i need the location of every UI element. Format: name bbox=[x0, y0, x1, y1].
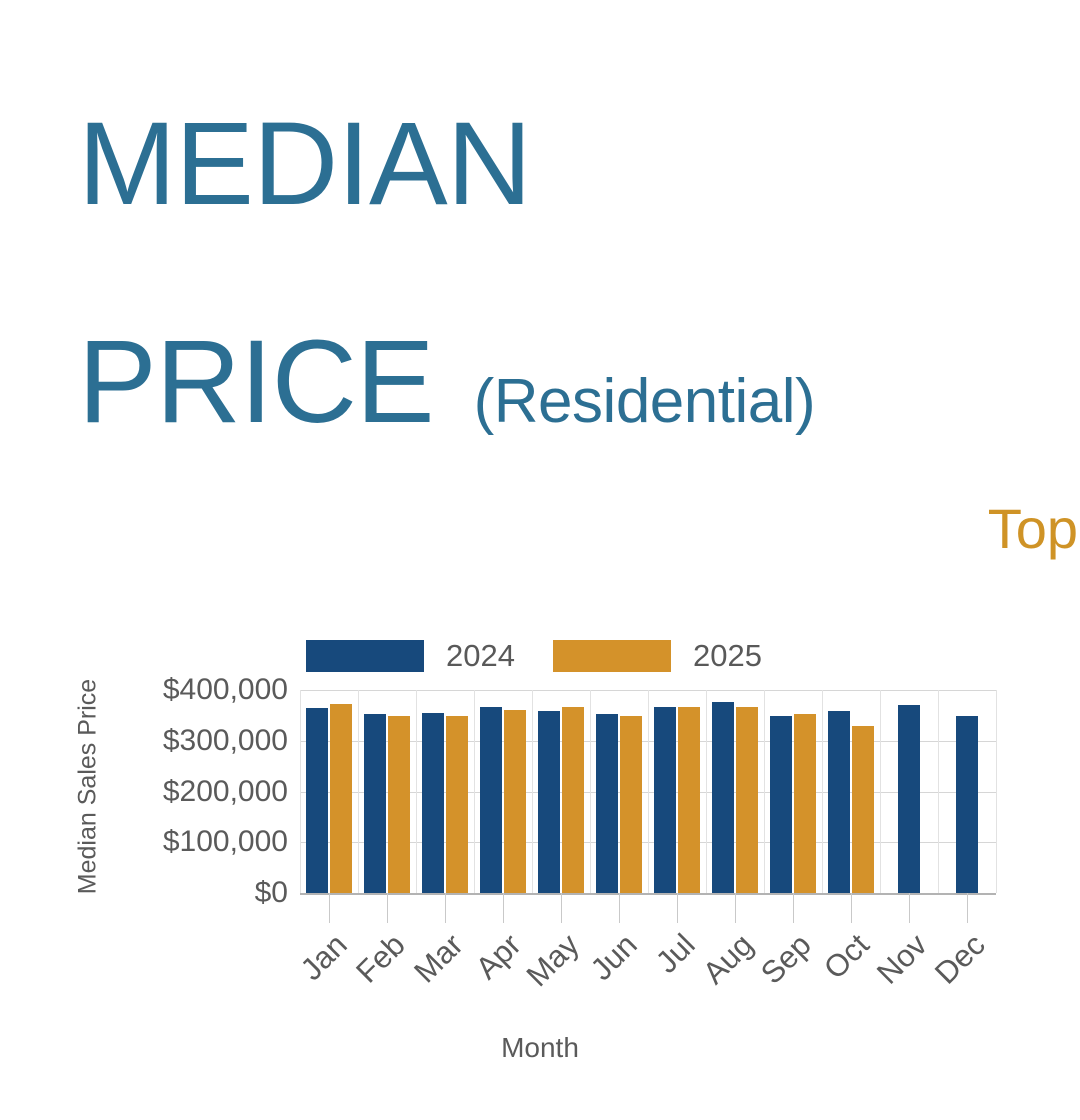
y-tick-label-100000: $100,000 bbox=[163, 825, 288, 859]
page-title-suffix: (Residential) bbox=[474, 366, 816, 437]
bar-group-aug bbox=[706, 690, 764, 893]
x-tick-jan bbox=[329, 893, 330, 923]
bar-sep-2025[interactable] bbox=[794, 714, 816, 893]
x-tick-may bbox=[561, 893, 562, 923]
legend-swatch-2024-icon bbox=[306, 640, 424, 672]
x-tick-mar bbox=[445, 893, 446, 923]
bar-group-mar bbox=[416, 690, 474, 893]
x-tick-jun bbox=[619, 893, 620, 923]
y-tick-label-300000: $300,000 bbox=[163, 724, 288, 758]
bar-feb-2024[interactable] bbox=[364, 714, 386, 893]
bar-group-may bbox=[532, 690, 590, 893]
bar-group-nov bbox=[880, 690, 938, 893]
median-price-chart-page: MEDIAN PRICE (Residential) Top 2024 2025… bbox=[0, 0, 1080, 1120]
x-tick-aug bbox=[735, 893, 736, 923]
legend-label-2025: 2025 bbox=[693, 638, 762, 674]
y-tick-label-200000: $200,000 bbox=[163, 775, 288, 809]
bar-group-sep bbox=[764, 690, 822, 893]
bar-jul-2024[interactable] bbox=[654, 707, 676, 893]
x-axis-title: Month bbox=[0, 1032, 1080, 1064]
y-tick-label-0: $0 bbox=[255, 876, 288, 910]
bar-aug-2025[interactable] bbox=[736, 707, 758, 893]
bar-jan-2024[interactable] bbox=[306, 708, 328, 893]
bar-jul-2025[interactable] bbox=[678, 707, 700, 893]
x-tick-dec bbox=[967, 893, 968, 923]
bar-group-feb bbox=[358, 690, 416, 893]
page-title-line2: PRICE bbox=[78, 322, 434, 442]
bar-may-2025[interactable] bbox=[562, 707, 584, 893]
legend-item-2025[interactable]: 2025 bbox=[553, 638, 762, 674]
bar-group-oct bbox=[822, 690, 880, 893]
bar-jan-2025[interactable] bbox=[330, 704, 352, 893]
bar-group-jan bbox=[300, 690, 358, 893]
y-axis-title: Median Sales Price bbox=[74, 647, 103, 927]
bar-mar-2025[interactable] bbox=[446, 716, 468, 893]
legend-label-2024: 2024 bbox=[446, 638, 515, 674]
bar-oct-2025[interactable] bbox=[852, 726, 874, 893]
page-title-line2-row: PRICE (Residential) bbox=[78, 322, 1038, 442]
bar-mar-2024[interactable] bbox=[422, 713, 444, 893]
x-tick-oct bbox=[851, 893, 852, 923]
gridline-0 bbox=[300, 893, 996, 895]
bar-series-group bbox=[300, 690, 996, 893]
legend-item-2024[interactable]: 2024 bbox=[306, 638, 515, 674]
bar-feb-2025[interactable] bbox=[388, 716, 410, 893]
bar-group-jul bbox=[648, 690, 706, 893]
bar-jun-2024[interactable] bbox=[596, 714, 618, 893]
x-tick-nov bbox=[909, 893, 910, 923]
page-title-line1: MEDIAN bbox=[78, 104, 1038, 224]
plot-area: $0$100,000$200,000$300,000$400,000 JanFe… bbox=[300, 690, 996, 893]
x-tick-feb bbox=[387, 893, 388, 923]
bar-aug-2024[interactable] bbox=[712, 702, 734, 893]
bar-dec-2024[interactable] bbox=[956, 716, 978, 893]
bar-nov-2024[interactable] bbox=[898, 705, 920, 893]
bar-apr-2025[interactable] bbox=[504, 710, 526, 893]
x-tick-jul bbox=[677, 893, 678, 923]
bar-group-apr bbox=[474, 690, 532, 893]
y-tick-label-400000: $400,000 bbox=[163, 673, 288, 707]
legend-swatch-2025-icon bbox=[553, 640, 671, 672]
x-tick-apr bbox=[503, 893, 504, 923]
bar-group-jun bbox=[590, 690, 648, 893]
bar-oct-2024[interactable] bbox=[828, 711, 850, 893]
x-tick-sep bbox=[793, 893, 794, 923]
top-label: Top bbox=[2, 496, 1078, 561]
bar-apr-2024[interactable] bbox=[480, 707, 502, 893]
page-header: MEDIAN PRICE (Residential) bbox=[78, 104, 1038, 443]
chart-legend: 2024 2025 bbox=[306, 638, 762, 674]
bar-group-dec bbox=[938, 690, 996, 893]
bar-jun-2025[interactable] bbox=[620, 716, 642, 893]
bar-sep-2024[interactable] bbox=[770, 716, 792, 893]
chart-container: 2024 2025 Median Sales Price $0$100,000$… bbox=[0, 620, 1080, 1120]
vertical-gridline-12 bbox=[996, 690, 997, 893]
bar-may-2024[interactable] bbox=[538, 711, 560, 893]
